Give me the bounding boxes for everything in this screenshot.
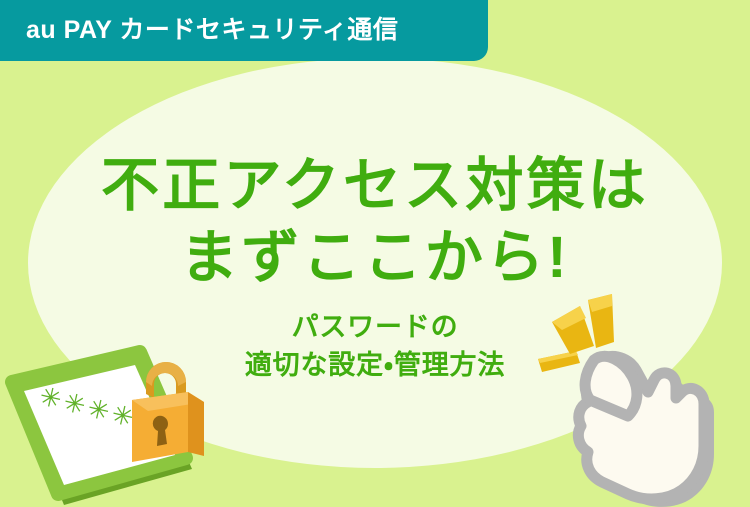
ribbon-label: au PAY カードセキュリティ通信 bbox=[0, 18, 398, 43]
headline-line-2: まずここから! bbox=[0, 222, 750, 294]
pointing-hand-illustration bbox=[536, 294, 750, 507]
promo-banner: au PAY カードセキュリティ通信 不正アクセス対策は まずここから! パスワ… bbox=[0, 0, 750, 507]
headline: 不正アクセス対策は まずここから! bbox=[0, 150, 750, 294]
password-input-field-icon: ✳ ✳ ✳ ✳ ✳ ✳ bbox=[0, 344, 240, 507]
hand-index-finger bbox=[585, 356, 637, 416]
headline-line-1: 不正アクセス対策は bbox=[0, 150, 750, 222]
password-field-illustration: ✳ ✳ ✳ ✳ ✳ ✳ bbox=[0, 344, 240, 507]
padlock-body-side bbox=[188, 392, 204, 456]
ribbon-header: au PAY カードセキュリティ通信 bbox=[0, 0, 488, 61]
